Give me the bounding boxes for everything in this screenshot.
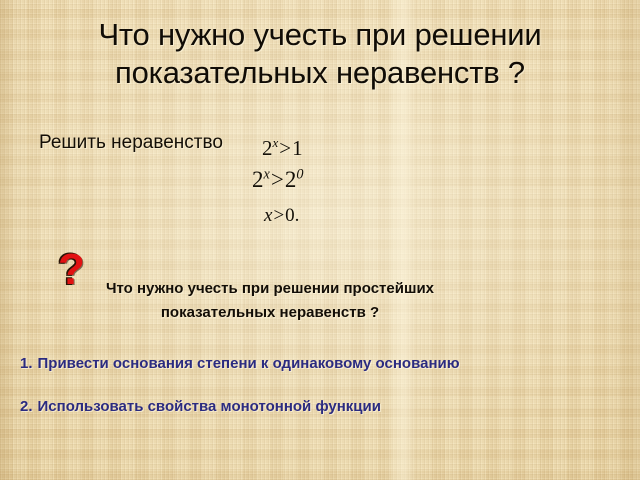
math-expression-3: x>0. [264,205,299,227]
list-item: 1.Привести основания степени к одинаково… [20,354,460,374]
math-2-operator: > [270,167,285,192]
math-1-base: 2 [262,136,273,160]
math-expression-2: 2x>20 [252,167,303,193]
page-title-line-2: показательных неравенств ? [0,54,640,92]
question-block: Что нужно учесть при решении простейших … [0,277,540,325]
solve-inequality-label: Решить неравенство [39,131,223,155]
math-3-right: 0. [285,205,299,226]
slide-canvas: Что нужно учесть при решении показательн… [0,0,640,480]
math-2-base: 2 [252,167,264,192]
math-1-operator: > [278,136,292,160]
list-item-2-number: 2. [20,398,33,415]
page-title: Что нужно учесть при решении показательн… [0,16,640,92]
math-2-right-base: 2 [285,167,297,192]
page-title-line-1: Что нужно учесть при решении [0,16,640,54]
list-item-1-text: Привести основания степени к одинаковому… [38,355,460,372]
list-item: 2.Использовать свойства монотонной функц… [20,397,381,417]
question-line-2: показательных неравенств ? [0,301,540,325]
math-1-right: 1 [292,136,303,160]
math-expression-1: 2x>1 [262,136,303,161]
math-2-right-exponent: 0 [296,166,303,182]
question-line-1: Что нужно учесть при решении простейших [0,277,540,301]
list-item-2-text: Использовать свойства монотонной функции [38,398,381,415]
math-3-operator: > [272,205,285,226]
list-item-1-number: 1. [20,355,33,372]
math-2-exponent: x [264,166,270,182]
